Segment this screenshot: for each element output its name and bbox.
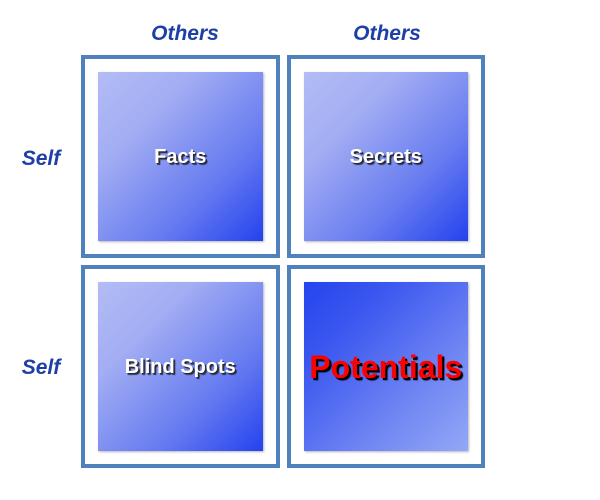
tile-label-secrets: Secrets bbox=[350, 147, 422, 167]
tile-label-potentials: Potentials bbox=[309, 351, 462, 383]
column-label-others-2: Others bbox=[307, 23, 467, 44]
quadrant-top-right[interactable]: Secrets bbox=[287, 55, 486, 258]
row-label-self-2: Self bbox=[4, 357, 78, 378]
tile-potentials: Potentials bbox=[304, 282, 469, 451]
quadrant-grid: Facts Secrets Blind Spots Potentials bbox=[81, 55, 485, 468]
johari-window-diagram: Others Others Self Self Facts Secrets Bl… bbox=[0, 0, 600, 500]
tile-facts: Facts bbox=[98, 72, 263, 241]
tile-label-facts: Facts bbox=[154, 147, 206, 167]
quadrant-top-left[interactable]: Facts bbox=[81, 55, 280, 258]
tile-label-blind-spots: Blind Spots bbox=[125, 357, 236, 377]
quadrant-bottom-left[interactable]: Blind Spots bbox=[81, 265, 280, 468]
column-label-others-1: Others bbox=[105, 23, 265, 44]
tile-secrets: Secrets bbox=[304, 72, 469, 241]
quadrant-bottom-right[interactable]: Potentials bbox=[287, 265, 486, 468]
row-label-self-1: Self bbox=[4, 148, 78, 169]
tile-blind-spots: Blind Spots bbox=[98, 282, 263, 451]
